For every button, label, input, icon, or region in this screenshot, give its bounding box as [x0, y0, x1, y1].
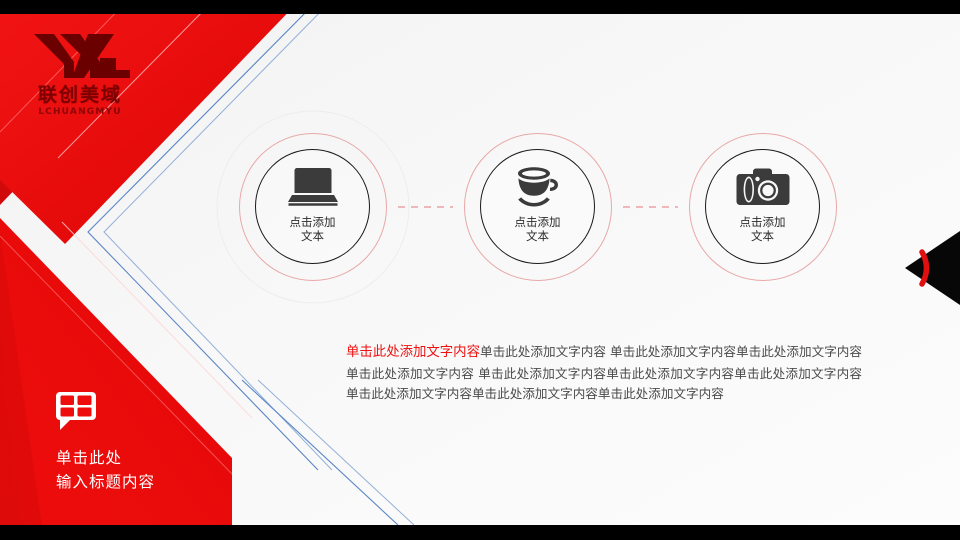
letterbox-bar-top — [0, 0, 960, 14]
section-title-line2: 输入标题内容 — [56, 470, 155, 494]
coffee-cup-icon — [513, 164, 563, 210]
yl-monogram-logo — [26, 28, 134, 84]
laptop-wifi-icon — [286, 164, 340, 210]
camera-icon — [736, 164, 790, 210]
node-label: 点击添加 文本 — [515, 215, 561, 244]
presentation-slide: 联创美域 LCHUANGMYU — [0, 0, 960, 540]
node-label-line2: 文本 — [515, 229, 561, 243]
letterbox-bar-bottom — [0, 525, 960, 540]
node-label: 点击添加 文本 — [290, 215, 336, 244]
node-label-line1: 点击添加 — [740, 215, 786, 229]
feature-node-3[interactable]: 点击添加 文本 — [689, 133, 837, 281]
node-label-line2: 文本 — [740, 229, 786, 243]
section-title-text: 单击此处 输入标题内容 — [56, 446, 155, 494]
body-lead-text: 单击此处添加文字内容 — [346, 345, 480, 360]
feature-node-2[interactable]: 点击添加 文本 — [464, 133, 612, 281]
node-label-line1: 点击添加 — [290, 215, 336, 229]
brand-logo: 联创美域 LCHUANGMYU — [20, 28, 140, 117]
body-paragraph[interactable]: 单击此处添加文字内容单击此处添加文字内容 单击此处添加文字内容单击此处添加文字内… — [346, 342, 862, 404]
speech-bubble-grid-icon — [56, 392, 96, 430]
node-inner-ring: 点击添加 文本 — [255, 149, 370, 264]
node-label-line1: 点击添加 — [515, 215, 561, 229]
section-title-line1: 单击此处 — [56, 446, 155, 470]
node-inner-ring: 点击添加 文本 — [705, 149, 820, 264]
logo-name-en: LCHUANGMYU — [20, 107, 140, 117]
node-inner-ring: 点击添加 文本 — [480, 149, 595, 264]
node-label: 点击添加 文本 — [740, 215, 786, 244]
node-label-line2: 文本 — [290, 229, 336, 243]
feature-node-1[interactable]: 点击添加 文本 — [239, 133, 387, 281]
logo-name-cn: 联创美域 — [20, 86, 140, 106]
section-title-block: 单击此处 输入标题内容 — [56, 392, 155, 494]
